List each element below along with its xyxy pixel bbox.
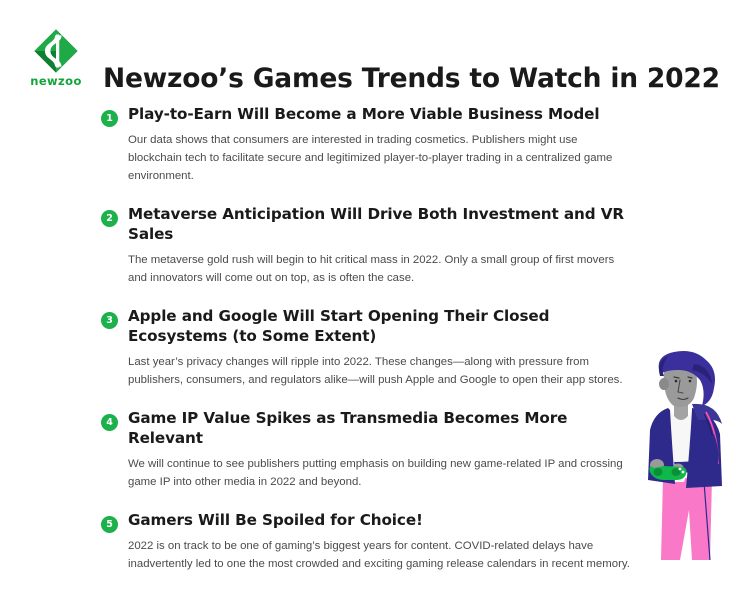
- trends-list: 1 Play-to-Earn Will Become a More Viable…: [0, 104, 740, 592]
- trend-body-2: The metaverse gold rush will begin to hi…: [128, 251, 633, 287]
- trend-heading-2: Metaverse Anticipation Will Drive Both I…: [128, 204, 644, 244]
- trend-number-badge-5: 5: [101, 516, 118, 533]
- trend-body-1: Our data shows that consumers are intere…: [128, 131, 633, 185]
- trend-number-badge-3: 3: [101, 312, 118, 329]
- trend-item-4: 4 Game IP Value Spikes as Transmedia Bec…: [0, 408, 740, 491]
- trend-heading-5: Gamers Will Be Spoiled for Choice!: [128, 510, 644, 530]
- trend-item-3: 3 Apple and Google Will Start Opening Th…: [0, 306, 740, 389]
- trend-number-badge-4: 4: [101, 414, 118, 431]
- trend-item-2: 2 Metaverse Anticipation Will Drive Both…: [0, 204, 740, 287]
- trend-body-3: Last year’s privacy changes will ripple …: [128, 353, 633, 389]
- page-header: newzoo Newzoo’s Games Trends to Watch in…: [0, 0, 740, 104]
- trend-heading-1: Play-to-Earn Will Become a More Viable B…: [128, 104, 644, 124]
- trend-body-5: 2022 is on track to be one of gaming’s b…: [128, 537, 633, 573]
- newzoo-wordmark: newzoo: [22, 75, 90, 87]
- trend-body-4: We will continue to see publishers putti…: [128, 455, 633, 491]
- newzoo-diamond-logo-icon: [33, 28, 79, 74]
- page-title: Newzoo’s Games Trends to Watch in 2022: [103, 63, 720, 94]
- trend-heading-4: Game IP Value Spikes as Transmedia Becom…: [128, 408, 644, 448]
- trend-number-badge-2: 2: [101, 210, 118, 227]
- infographic-page: newzoo Newzoo’s Games Trends to Watch in…: [0, 0, 740, 560]
- trend-item-1: 1 Play-to-Earn Will Become a More Viable…: [0, 104, 740, 185]
- trend-heading-3: Apple and Google Will Start Opening Thei…: [128, 306, 644, 346]
- newzoo-logo: newzoo: [22, 28, 90, 90]
- trend-item-5: 5 Gamers Will Be Spoiled for Choice! 202…: [0, 510, 740, 573]
- trend-number-badge-1: 1: [101, 110, 118, 127]
